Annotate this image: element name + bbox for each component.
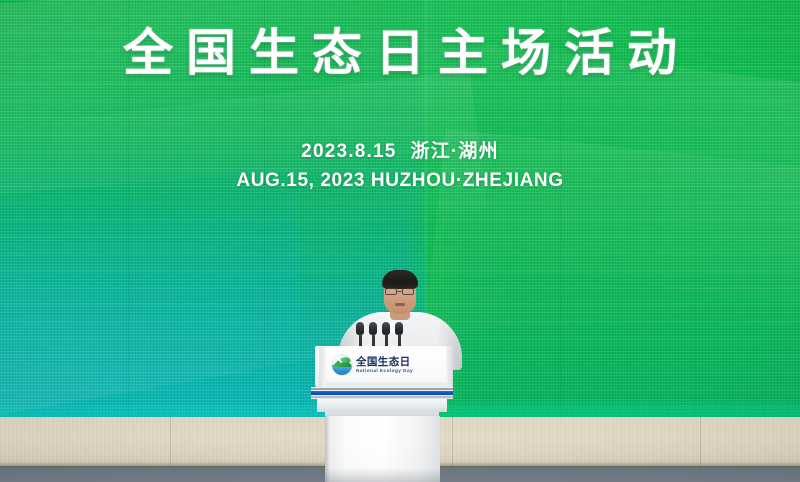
podium-trim-line-bottom [311,396,453,398]
podium-logo-text: 全国生态日 National Ecology Day [356,357,412,374]
podium-logo: 全国生态日 National Ecology Day [332,353,432,377]
event-date-chinese: 2023.8.15 [301,141,396,162]
podium-shelf [317,399,447,412]
glasses-lens-left [385,288,397,295]
podium-top-panel: 全国生态日 National Ecology Day [315,346,449,387]
glasses-lens-right [402,288,414,295]
podium-trim-line-top [311,388,453,390]
podium-edge-right [446,346,453,387]
beige-wall-seam-3 [700,417,701,467]
speaker-mouth [395,303,405,306]
photo-scene: 全国生态日主场活动 2023.8.15浙江·湖州 AUG.15, 2023 HU… [0,0,800,482]
event-location-chinese: 浙江·湖州 [411,141,499,162]
ecology-day-emblem-icon [332,355,352,375]
speaker-eyebrow-left [386,285,396,287]
podium-column-base-shadow [325,468,440,482]
speaker-eyebrow-right [403,285,413,287]
podium-logo-chinese: 全国生态日 [356,357,412,368]
beige-wall-seam-1 [170,417,171,467]
event-date-location-chinese: 2023.8.15浙江·湖州 [0,140,800,163]
podium-edge-left [319,346,326,387]
podium-trim-blue-stripe [311,391,453,395]
emblem-leaf-shape [340,355,350,363]
podium-logo-english: National Ecology Day [356,368,413,374]
podium: 全国生态日 National Ecology Day [311,346,453,482]
podium-trim-band [311,387,453,399]
event-date-location-english: AUG.15, 2023 HUZHOU·ZHEJIANG [0,169,800,192]
event-headline-chinese: 全国生态日主场活动 [0,24,800,82]
speaker-glasses [385,288,415,296]
